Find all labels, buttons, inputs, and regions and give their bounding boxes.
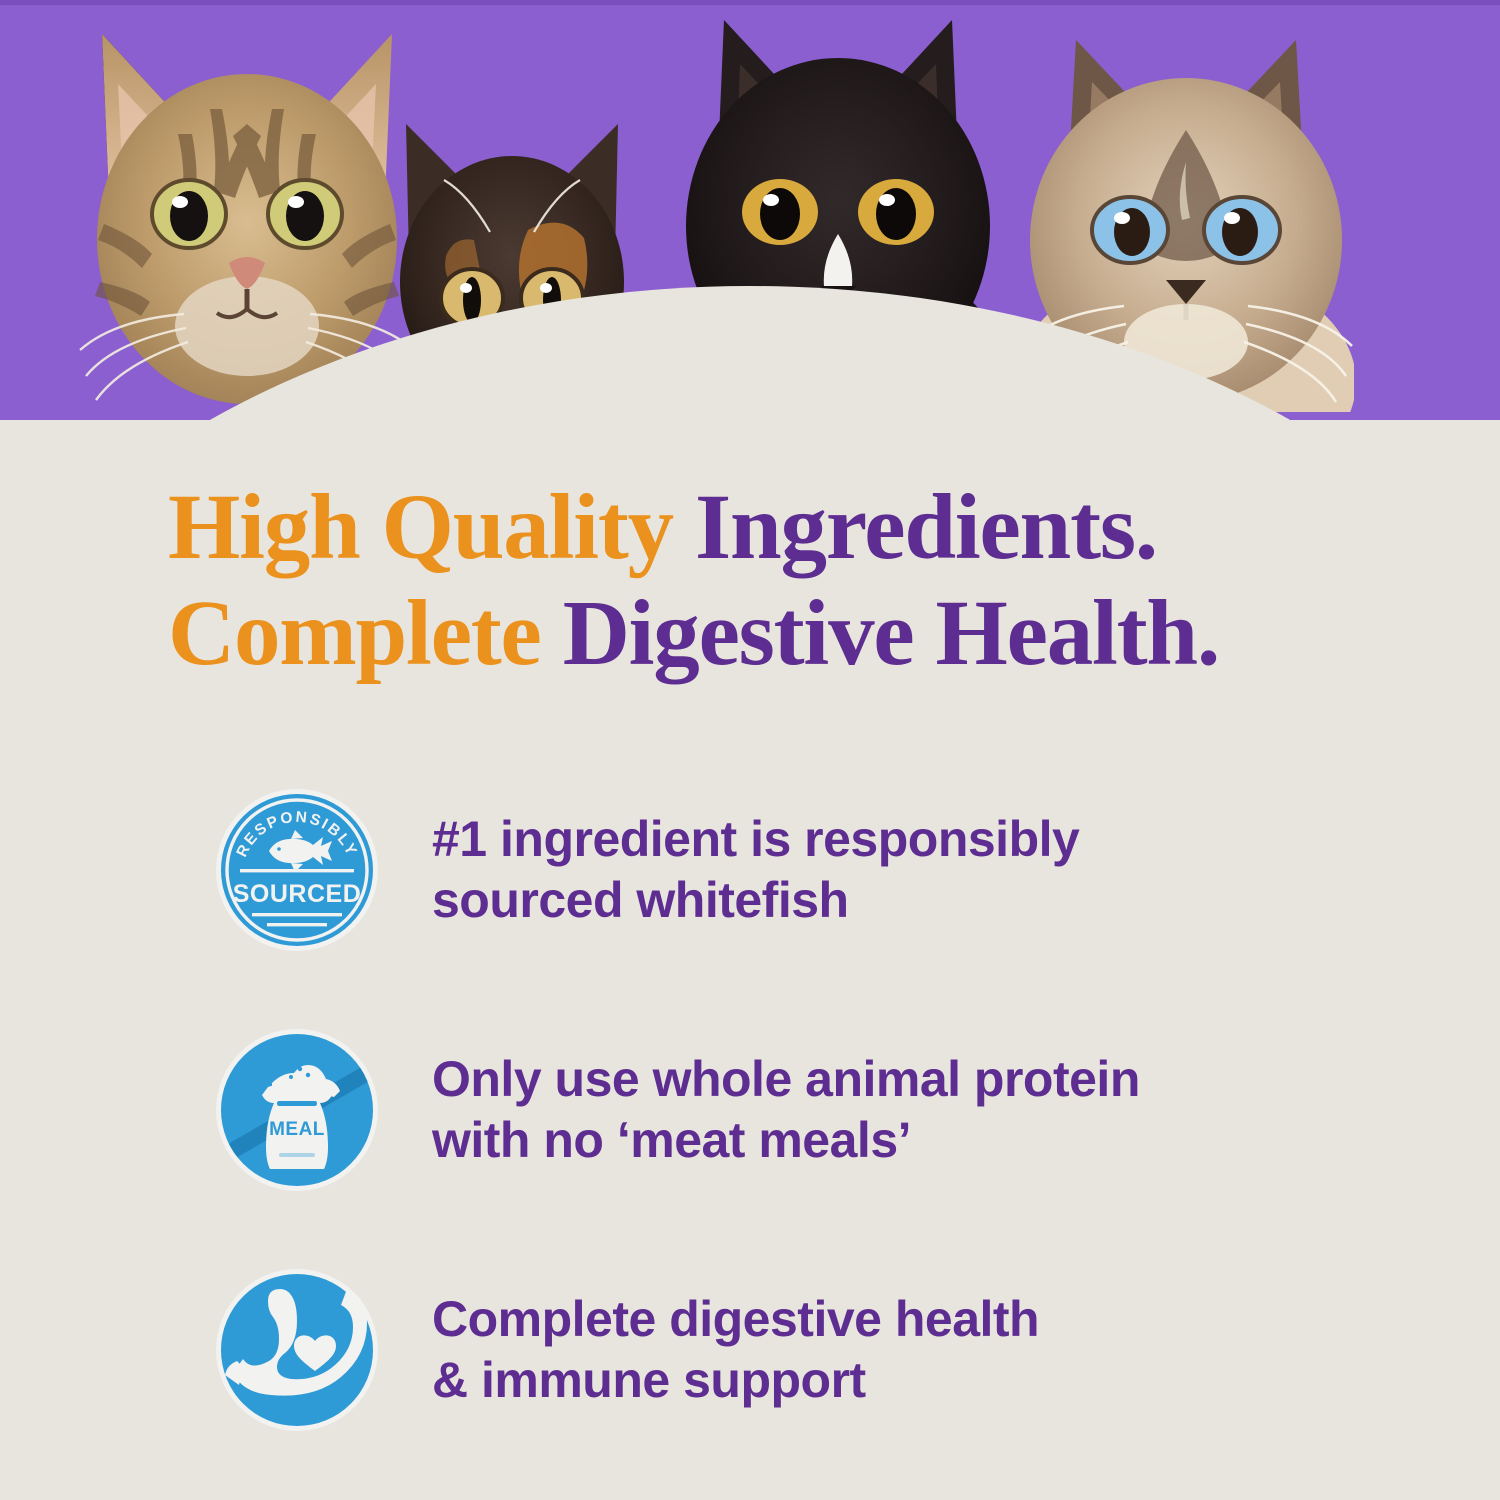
headline-line2-purple: Digestive Health. — [563, 582, 1219, 685]
feature-2-line-2: with no ‘meat meals’ — [432, 1110, 1140, 1171]
hero-banner — [0, 0, 1500, 420]
feature-3-line-2: & immune support — [432, 1350, 1039, 1411]
feature-list: RESPONSIBLY SOURCED #1 ingredi — [0, 750, 1500, 1470]
no-meat-meal-bag-icon: MEAL — [212, 1025, 382, 1195]
feature-text-responsibly-sourced: #1 ingredient is responsibly sourced whi… — [432, 809, 1079, 931]
headline-line2-orange: Complete — [168, 582, 541, 685]
feature-2-line-1: Only use whole animal protein — [432, 1049, 1140, 1110]
feature-text-no-meat-meals: Only use whole animal protein with no ‘m… — [432, 1049, 1140, 1171]
main-content: High Quality Ingredients. Complete Diges… — [0, 420, 1500, 1500]
headline-line1-purple: Ingredients. — [695, 476, 1157, 579]
feature-row-responsibly-sourced: RESPONSIBLY SOURCED #1 ingredi — [0, 750, 1500, 990]
feature-row-no-meat-meals: MEAL Only use whole animal protein with … — [0, 990, 1500, 1230]
stomach-heart-digestive-health-icon — [212, 1265, 382, 1435]
feature-1-line-1: #1 ingredient is responsibly — [432, 809, 1079, 870]
meal-bag-label: MEAL — [269, 1119, 325, 1140]
responsibly-sourced-fish-badge-icon: RESPONSIBLY SOURCED — [212, 785, 382, 955]
feature-text-digestive-health: Complete digestive health & immune suppo… — [432, 1289, 1039, 1411]
feature-row-digestive-health: Complete digestive health & immune suppo… — [0, 1230, 1500, 1470]
feature-1-line-2: sourced whitefish — [432, 870, 1079, 931]
feature-3-line-1: Complete digestive health — [432, 1289, 1039, 1350]
headline-line-1: High Quality Ingredients. — [168, 475, 1428, 581]
page-headline: High Quality Ingredients. Complete Diges… — [168, 475, 1428, 687]
badge-main-text: SOURCED — [233, 880, 362, 908]
headline-line1-orange: High Quality — [168, 476, 673, 579]
headline-line-2: Complete Digestive Health. — [168, 581, 1428, 687]
